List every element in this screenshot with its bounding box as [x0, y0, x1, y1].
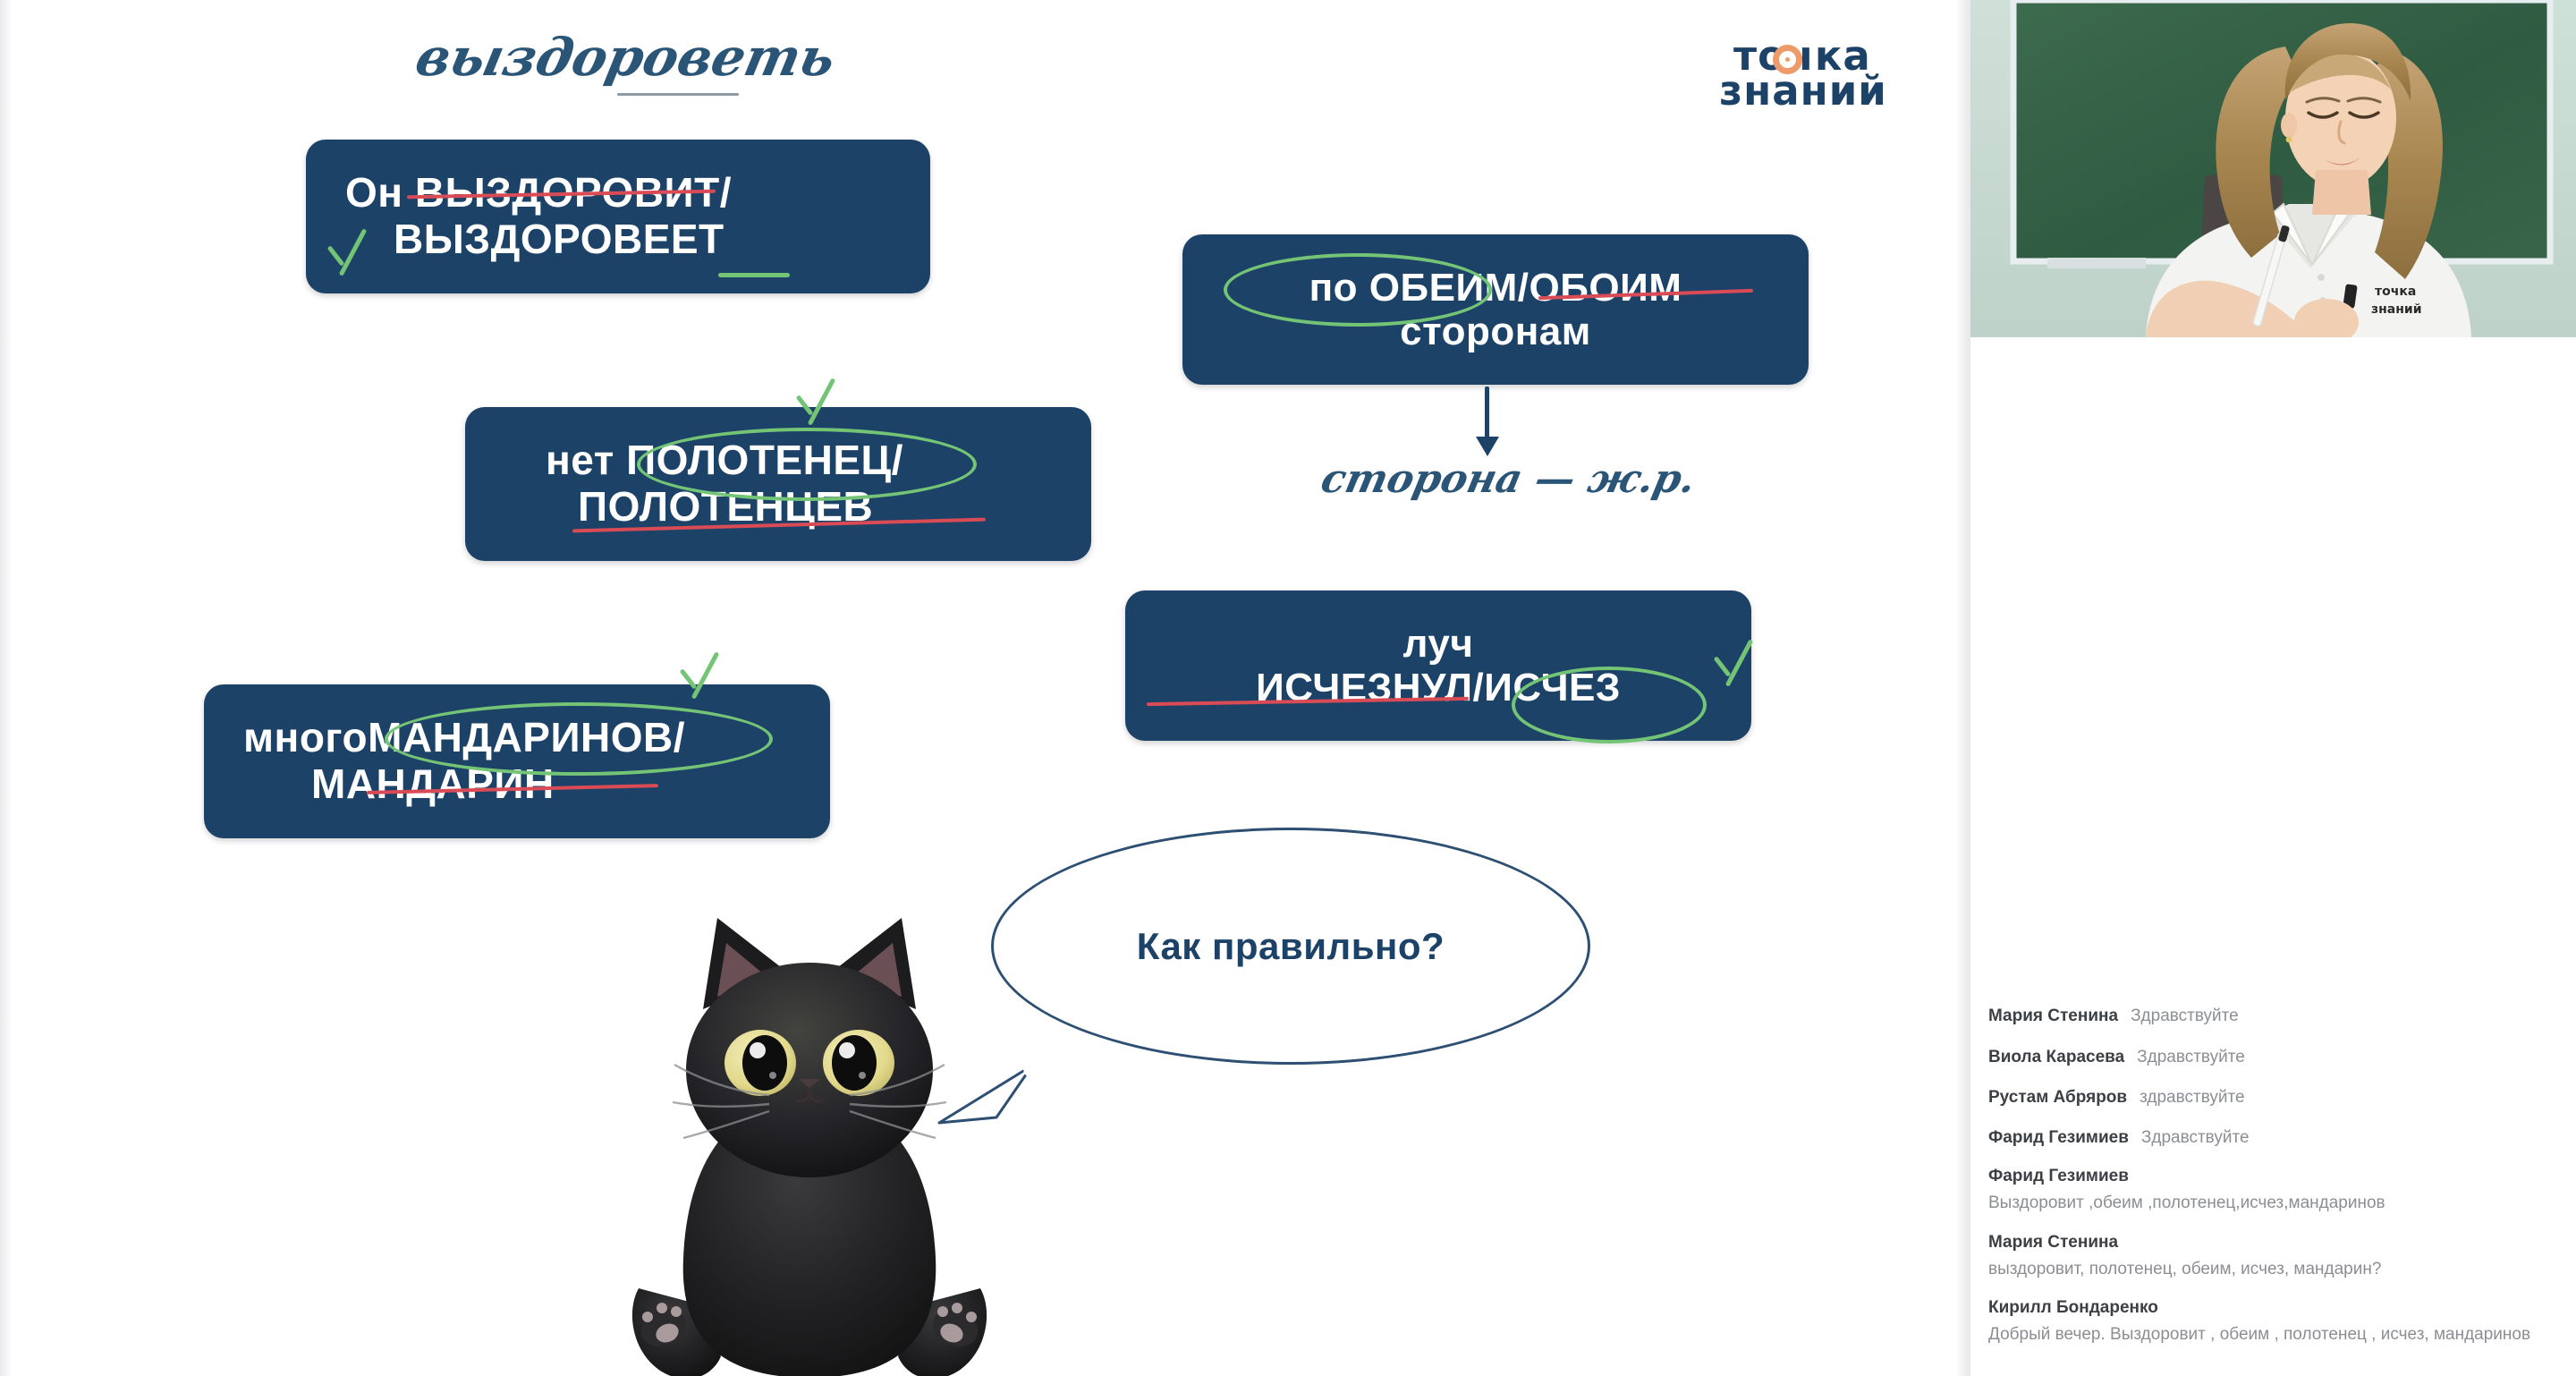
- chat-text: Здравствуйте: [2137, 1046, 2245, 1069]
- chat-text: Здравствуйте: [2131, 1005, 2239, 1028]
- card-2-wrong-word: ОБОИМ: [1529, 266, 1682, 310]
- card-5-line-1: многоМАНДАРИНОВ/: [243, 715, 830, 761]
- svg-text:знаний: знаний: [2371, 302, 2422, 317]
- chat-author: Фарид Гезимиев: [1988, 1167, 2560, 1186]
- card-obeim[interactable]: по ОБЕИМ/ОБОИМ сторонам: [1182, 234, 1809, 385]
- card-vyzdoroveet[interactable]: Он ВЫЗДОРОВИТ/ ВЫЗДОРОВЕЕТ: [306, 140, 930, 293]
- card-1-separator: /: [720, 169, 732, 216]
- card-3-correct-word: ПОЛОТЕНЕЦ: [626, 437, 892, 484]
- card-4-line-2: ИСЧЕЗНУЛ/ИСЧЕЗ: [1256, 666, 1621, 709]
- card-4-line-1: луч: [1403, 622, 1474, 666]
- card-1-line-2: ВЫЗДОРОВЕЕТ: [345, 217, 930, 263]
- handwritten-title: выздороветь: [411, 27, 841, 88]
- chat-message: Кирилл БондаренкоДобрый вечер. Выздорови…: [1988, 1298, 2560, 1346]
- chat-text: Здравствуйте: [2141, 1126, 2250, 1150]
- chat-message-list[interactable]: Мария СтенинаЗдравствуйтеВиола КарасеваЗ…: [1970, 1005, 2576, 1363]
- card-1-lead: Он: [345, 169, 415, 216]
- card-1-line-1: Он ВЫЗДОРОВИТ/: [345, 170, 930, 217]
- chat-author: Мария Стенина: [1988, 1007, 2118, 1026]
- card-5-separator: /: [674, 714, 685, 760]
- card-mandarinov[interactable]: многоМАНДАРИНОВ/ МАНДАРИН: [204, 684, 830, 838]
- logo-line-2: знаний: [1719, 71, 1887, 111]
- card-3-lead: нет: [546, 437, 626, 483]
- chat-message: Мария СтенинаЗдравствуйте: [1988, 1005, 2560, 1028]
- chat-message-row: Рустам Абряровздравствуйте: [1988, 1086, 2560, 1109]
- down-arrow-head: [1476, 437, 1499, 456]
- card-2-line-2: сторонам: [1400, 310, 1591, 353]
- card-3-wrong-word: ПОЛОТЕНЦЕВ: [578, 484, 873, 531]
- cat-mascot: [617, 904, 1002, 1376]
- card-3-line-1: нет ПОЛОТЕНЕЦ/: [546, 437, 1091, 484]
- card-4-correct-word: ИСЧЕЗ: [1484, 666, 1621, 709]
- chat-message: Фарид ГезимиевВыздоровит ,обеим ,полотен…: [1988, 1167, 2560, 1215]
- chat-message: Фарид ГезимиевЗдравствуйте: [1988, 1126, 2560, 1150]
- card-2-annotation: сторона — ж.р.: [1318, 456, 1700, 502]
- chat-text: Выздоровит ,обеим ,полотенец,исчез,манда…: [1988, 1192, 2560, 1215]
- speech-bubble-text: Как правильно?: [1137, 925, 1445, 968]
- card-4-wrong-word: ИСЧЕЗНУЛ: [1256, 666, 1472, 709]
- chat-message-row: Мария СтенинаЗдравствуйте: [1988, 1005, 2560, 1028]
- presenter-video-frame: точка знаний: [1970, 0, 2576, 337]
- card-1-wrong-word: ВЫЗДОРОВИТ: [415, 170, 720, 217]
- sidebar-pane: точка знаний: [1970, 0, 2576, 1376]
- card-1-correct-word: ВЫЗДОРОВЕЕТ: [394, 217, 724, 263]
- shared-slide-pane[interactable]: точка знаний выздороветь Он ВЫЗДОРОВИТ/ …: [0, 0, 1970, 1376]
- chat-author: Мария Стенина: [1988, 1233, 2560, 1253]
- chat-author: Виола Карасева: [1988, 1048, 2124, 1067]
- card-2-line-1: по ОБЕИМ/ОБОИМ: [1309, 266, 1682, 310]
- card-2-separator: /: [1518, 266, 1529, 310]
- brand-logo: точка знаний: [1714, 32, 1919, 122]
- presenter-video-tile[interactable]: точка знаний: [1970, 0, 2576, 337]
- card-5-lead: много: [243, 714, 368, 760]
- card-5-line-2: МАНДАРИН: [243, 761, 830, 808]
- chat-message-row: Фарид ГезимиевЗдравствуйте: [1988, 1126, 2560, 1150]
- chat-message: Виола КарасеваЗдравствуйте: [1988, 1046, 2560, 1069]
- slide-left-edge: [0, 0, 12, 1376]
- chat-text: здравствуйте: [2140, 1086, 2244, 1109]
- speech-bubble: Как правильно?: [991, 828, 1590, 1065]
- slide-right-edge: [1956, 0, 1970, 1376]
- chat-panel[interactable]: Мария СтенинаЗдравствуйтеВиола КарасеваЗ…: [1970, 337, 2576, 1376]
- app-root: точка знаний выздороветь Он ВЫЗДОРОВИТ/ …: [0, 0, 2576, 1376]
- chat-message: Мария Стенинавыздоровит, полотенец, обеи…: [1988, 1233, 2560, 1281]
- chat-text: выздоровит, полотенец, обеим, исчез, ман…: [1988, 1258, 2560, 1281]
- card-3-line-2: ПОЛОТЕНЦЕВ: [546, 484, 1091, 531]
- chat-text: Добрый вечер. Выздоровит , обеим , полот…: [1988, 1323, 2560, 1346]
- handwritten-title-underline: [617, 93, 739, 96]
- chat-message-row: Виола КарасеваЗдравствуйте: [1988, 1046, 2560, 1069]
- card-5-wrong-word: МАНДАРИН: [311, 761, 555, 808]
- card-2-lead: по: [1309, 266, 1369, 310]
- card-2-correct-word: ОБЕИМ: [1369, 266, 1518, 310]
- card-4-separator: /: [1473, 666, 1485, 709]
- chat-author: Фарид Гезимиев: [1988, 1128, 2129, 1148]
- svg-text:точка: точка: [2375, 285, 2416, 299]
- down-arrow-stem: [1485, 386, 1489, 440]
- card-polotenec[interactable]: нет ПОЛОТЕНЕЦ/ ПОЛОТЕНЦЕВ: [465, 407, 1091, 561]
- chat-author: Рустам Абряров: [1988, 1088, 2127, 1108]
- chat-author: Кирилл Бондаренко: [1988, 1298, 2560, 1318]
- card-ischez[interactable]: луч ИСЧЕЗНУЛ/ИСЧЕЗ: [1125, 590, 1751, 741]
- chat-message: Рустам Абряровздравствуйте: [1988, 1086, 2560, 1109]
- card-3-separator: /: [892, 437, 903, 483]
- card-5-correct-word: МАНДАРИНОВ: [368, 715, 674, 761]
